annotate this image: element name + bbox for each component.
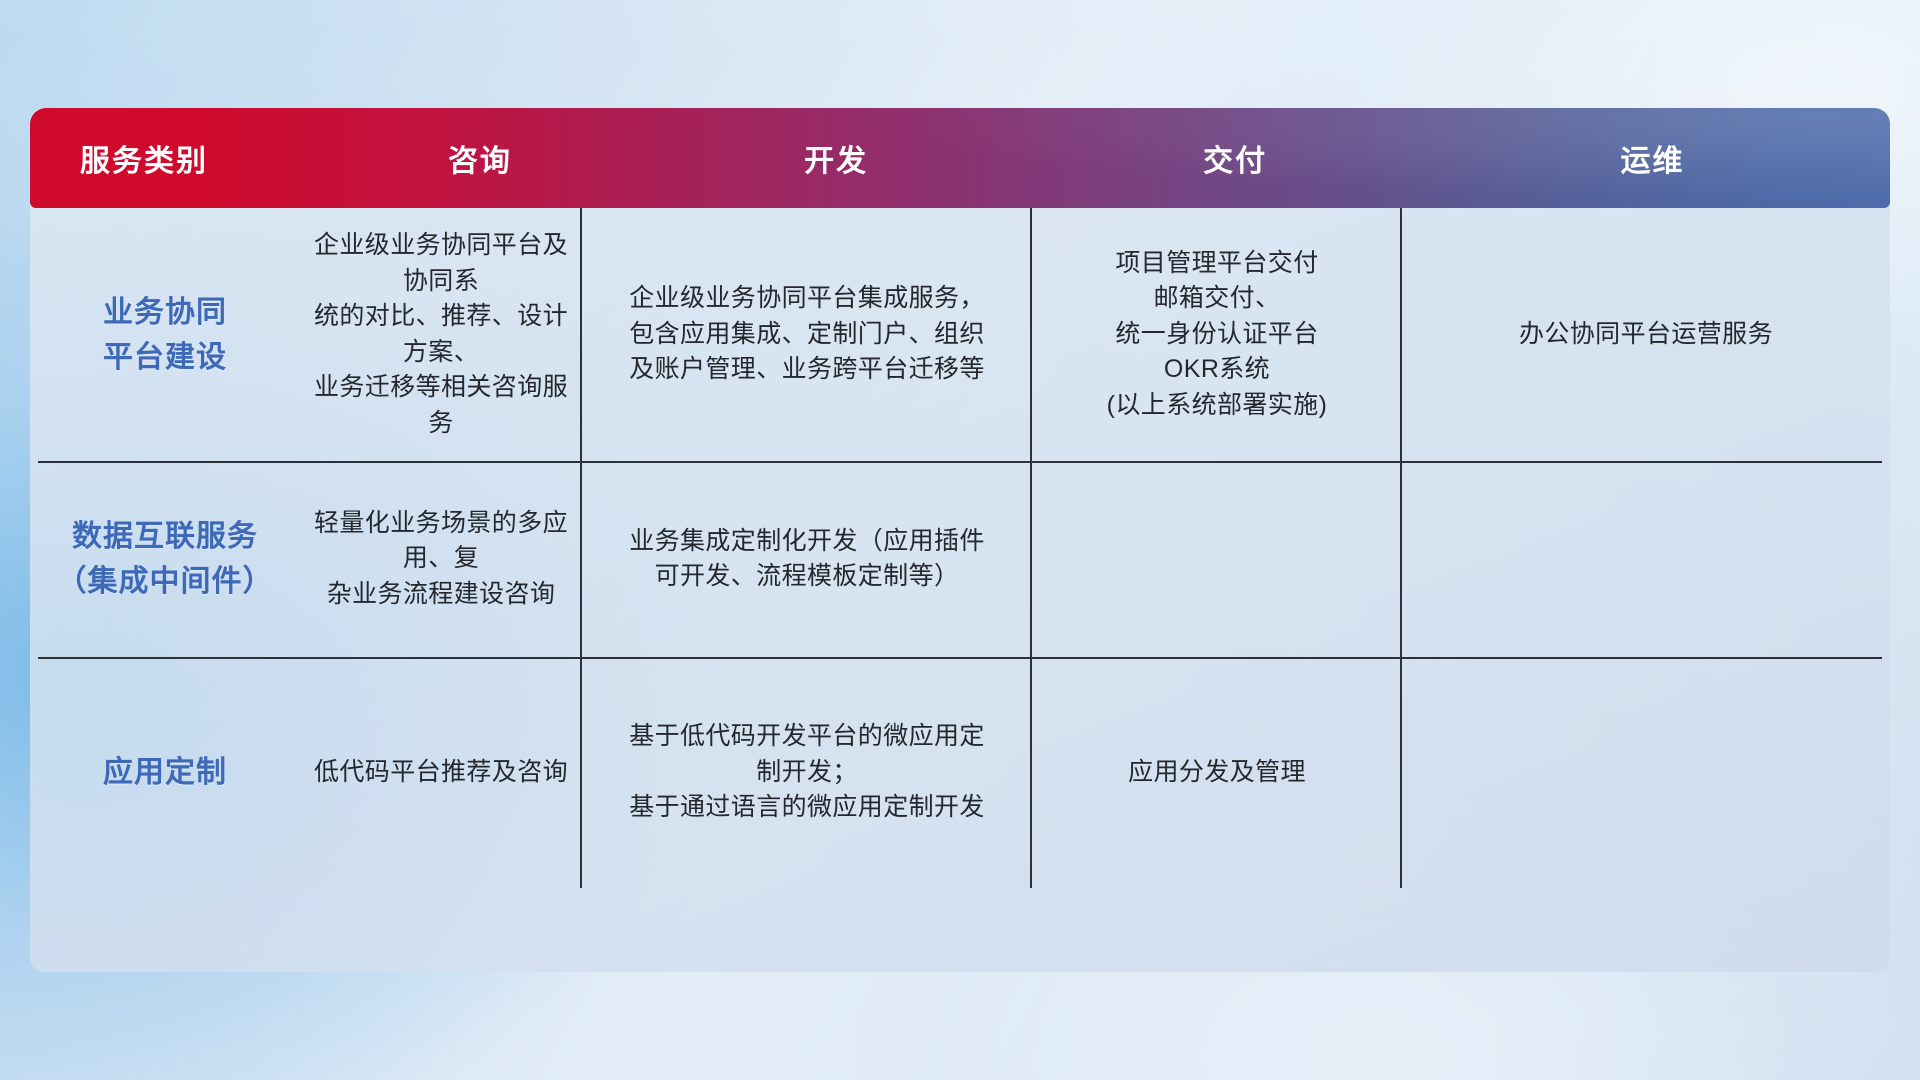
cell-development-row3: 基于低代码开发平台的微应用定 制开发； 基于通过语言的微应用定制开发 <box>582 657 1032 888</box>
row-label-data-integration: 数据互联服务 （集成中间件） <box>30 461 300 657</box>
cell-operations-row2 <box>1402 461 1890 657</box>
cell-consulting-row3: 低代码平台推荐及咨询 <box>300 657 582 888</box>
column-header-development: 开发 <box>617 136 1055 180</box>
column-header-category: 服务类别 <box>30 136 343 180</box>
row-label-business-collaboration: 业务协同 平台建设 <box>30 208 300 461</box>
row-label-app-customization: 应用定制 <box>30 657 300 888</box>
table-body: 业务协同 平台建设 企业级业务协同平台及协同系 统的对比、推荐、设计方案、 业务… <box>30 208 1890 972</box>
cell-delivery-row2 <box>1032 461 1402 657</box>
column-header-consulting: 咨询 <box>343 136 617 180</box>
cell-operations-row3 <box>1402 657 1890 888</box>
cell-delivery-row3: 应用分发及管理 <box>1032 657 1402 888</box>
table-header-row: 服务类别 咨询 开发 交付 运维 <box>30 108 1890 208</box>
cell-consulting-row2: 轻量化业务场景的多应用、复 杂业务流程建设咨询 <box>300 461 582 657</box>
table-row: 数据互联服务 （集成中间件） 轻量化业务场景的多应用、复 杂业务流程建设咨询 业… <box>30 461 1890 657</box>
cell-development-row1: 企业级业务协同平台集成服务， 包含应用集成、定制门户、组织 及账户管理、业务跨平… <box>582 208 1032 461</box>
cell-delivery-row1: 项目管理平台交付 邮箱交付、 统一身份认证平台 OKR系统 (以上系统部署实施) <box>1032 208 1402 461</box>
cell-development-row2: 业务集成定制化开发（应用插件 可开发、流程模板定制等） <box>582 461 1032 657</box>
column-header-delivery: 交付 <box>1055 136 1415 180</box>
cell-consulting-row1: 企业级业务协同平台及协同系 统的对比、推荐、设计方案、 业务迁移等相关咨询服务 <box>300 208 582 461</box>
column-header-operations: 运维 <box>1415 136 1890 180</box>
table-row: 应用定制 低代码平台推荐及咨询 基于低代码开发平台的微应用定 制开发； 基于通过… <box>30 657 1890 888</box>
service-matrix-table: 服务类别 咨询 开发 交付 运维 业务协同 平台建设 企业级业务协同平台及协同系… <box>30 108 1890 972</box>
cell-operations-row1: 办公协同平台运营服务 <box>1402 208 1890 461</box>
table-row: 业务协同 平台建设 企业级业务协同平台及协同系 统的对比、推荐、设计方案、 业务… <box>30 208 1890 461</box>
